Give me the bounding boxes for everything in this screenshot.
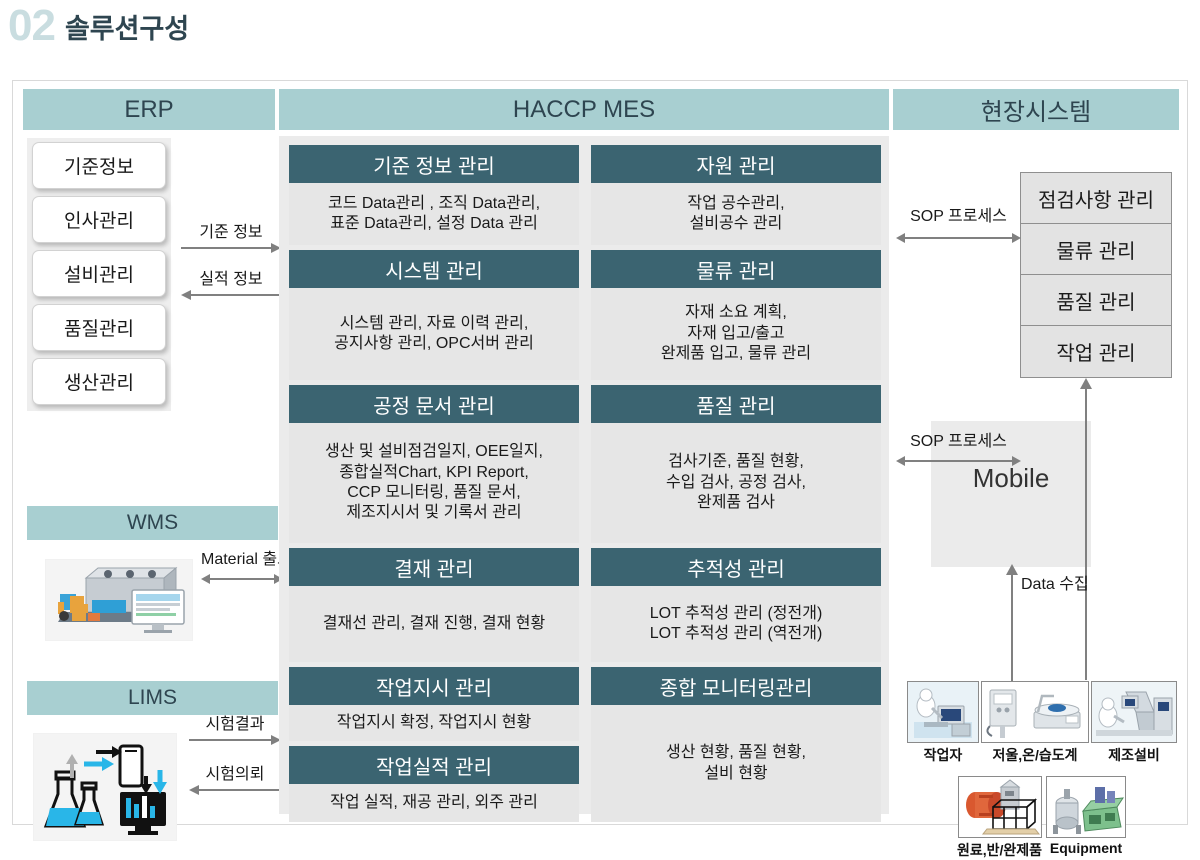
arrow-sop-bottom: SOP 프로세스 — [896, 433, 1021, 467]
mes-module-body: 자재 소요 계획, 자재 입고/출고 완제품 입고, 물류 관리 — [591, 288, 881, 380]
erp-module-card[interactable]: 기준정보 — [32, 142, 166, 189]
arrow-left-icon — [189, 784, 281, 796]
mes-module-title[interactable]: 작업실적 관리 — [289, 746, 579, 784]
diagram-frame: ERP HACCP MES 현장시스템 기준정보 인사관리 설비관리 품질관리 … — [12, 80, 1188, 825]
mes-right-modules: 자원 관리 작업 공수관리, 설비공수 관리 물류 관리 자재 소요 계획, 자… — [591, 145, 881, 827]
arrow-lims-to-mes: 시험결과 — [189, 716, 281, 746]
lims-header: LIMS — [27, 681, 278, 715]
lims-illustration — [33, 733, 177, 841]
arrow-both-icon — [896, 232, 1021, 244]
mes-column: 기준 정보 관리 코드 Data관리 , 조직 Data관리, 표준 Data관… — [279, 136, 889, 814]
laboratory-data-flow-icon — [34, 734, 176, 840]
mes-module-body: 검사기준, 품질 현황, 수입 검사, 공정 검사, 완제품 검사 — [591, 423, 881, 543]
column-header-site: 현장시스템 — [893, 89, 1179, 130]
erp-module-stack: 기준정보 인사관리 설비관리 품질관리 생산관리 — [27, 138, 171, 411]
column-header-erp: ERP — [23, 89, 275, 130]
device-item[interactable]: 작업자 — [907, 681, 979, 765]
device-caption: 제조설비 — [1108, 745, 1160, 765]
mobile-label: Mobile — [931, 463, 1091, 494]
operator-workstation-icon — [907, 681, 979, 743]
arrow-left-icon — [181, 289, 281, 301]
mes-module-title[interactable]: 공정 문서 관리 — [289, 385, 579, 423]
site-item[interactable]: 물류 관리 — [1021, 224, 1171, 275]
mes-module-body: 시스템 관리, 자료 이력 관리, 공지사항 관리, OPC서버 관리 — [289, 288, 579, 380]
erp-module-card[interactable]: 인사관리 — [32, 196, 166, 243]
mes-module-title[interactable]: 기준 정보 관리 — [289, 145, 579, 183]
site-item-stack: 점검사항 관리 물류 관리 품질 관리 작업 관리 — [1020, 172, 1172, 378]
arrow-wms-mes: Material 출고 정보 — [201, 551, 283, 585]
mes-module-title[interactable]: 결재 관리 — [289, 548, 579, 586]
mes-module-body: 생산 및 설비점검일지, OEE일지, 종합실적Chart, KPI Repor… — [289, 423, 579, 543]
scale-thermohygrometer-icon — [981, 681, 1089, 743]
arrow-mes-to-erp: 실적 정보 — [181, 271, 281, 301]
column-header-mes: HACCP MES — [279, 89, 889, 130]
mes-module-title[interactable]: 추적성 관리 — [591, 548, 881, 586]
arrow-mes-to-lims: 시험의뢰 — [189, 766, 281, 796]
device-caption: 원료,반/완제품 — [957, 840, 1042, 860]
arrow-label: 시험의뢰 — [189, 766, 281, 784]
device-row-top: 작업자 — [907, 681, 1177, 765]
site-item[interactable]: 작업 관리 — [1021, 326, 1171, 377]
mes-module-body: LOT 추적성 관리 (정전개) LOT 추적성 관리 (역전개) — [591, 586, 881, 662]
erp-module-card[interactable]: 품질관리 — [32, 304, 166, 351]
arrow-sop-top: SOP 프로세스 — [896, 208, 1021, 244]
mes-module-title[interactable]: 물류 관리 — [591, 250, 881, 288]
device-item[interactable]: 제조설비 — [1091, 681, 1177, 765]
mes-module-title[interactable]: 자원 관리 — [591, 145, 881, 183]
mes-module-title[interactable]: 시스템 관리 — [289, 250, 579, 288]
mes-module-body: 작업 공수관리, 설비공수 관리 — [591, 183, 881, 245]
mes-module-body: 작업 실적, 재공 관리, 외주 관리 — [289, 784, 579, 822]
arrow-both-icon — [896, 455, 1021, 467]
device-caption: 작업자 — [924, 745, 963, 765]
mes-left-modules: 기준 정보 관리 코드 Data관리 , 조직 Data관리, 표준 Data관… — [289, 145, 579, 827]
arrow-label: Material 출고 정보 — [201, 551, 283, 569]
mes-module-body: 결재선 관리, 결재 진행, 결재 현황 — [289, 586, 579, 662]
arrow-right-icon — [181, 242, 281, 254]
device-item[interactable]: 원료,반/완제품 — [957, 776, 1042, 860]
mes-module-body: 작업지시 확정, 작업지시 현황 — [289, 705, 579, 741]
site-item[interactable]: 품질 관리 — [1021, 275, 1171, 326]
device-caption: Equipment — [1050, 840, 1122, 856]
arrow-up-to-site-stack-icon — [1079, 378, 1093, 680]
raw-material-product-icon — [958, 776, 1042, 838]
mes-module-title[interactable]: 작업지시 관리 — [289, 667, 579, 705]
arrow-erp-to-mes: 기준 정보 — [181, 224, 281, 254]
arrow-up-data-collect-icon — [1005, 564, 1019, 682]
arrow-label: SOP 프로세스 — [896, 208, 1021, 226]
device-item[interactable]: Equipment — [1046, 776, 1126, 856]
process-equipment-icon — [1046, 776, 1126, 838]
device-item[interactable]: 저울,온/습도계 — [981, 681, 1089, 765]
slide-heading: 솔루션구성 — [65, 15, 189, 48]
slide-number: 02 — [8, 4, 55, 48]
arrow-label: 기준 정보 — [181, 224, 281, 242]
wms-illustration — [45, 559, 193, 641]
site-column: 점검사항 관리 물류 관리 품질 관리 작업 관리 SOP 프로세스 Mobil… — [893, 136, 1179, 814]
device-caption: 저울,온/습도계 — [992, 745, 1077, 765]
erp-module-card[interactable]: 설비관리 — [32, 250, 166, 297]
erp-column: 기준정보 인사관리 설비관리 품질관리 생산관리 기준 정보 실적 정보 WMS — [23, 136, 275, 814]
site-item[interactable]: 점검사항 관리 — [1021, 173, 1171, 224]
mes-module-body: 코드 Data관리 , 조직 Data관리, 표준 Data관리, 설정 Dat… — [289, 183, 579, 245]
arrow-label-data-collect: Data 수집 — [1021, 576, 1089, 594]
arrow-label: 시험결과 — [189, 716, 281, 734]
arrow-both-icon — [201, 573, 283, 585]
erp-module-card[interactable]: 생산관리 — [32, 358, 166, 405]
arrow-label: SOP 프로세스 — [896, 433, 1021, 451]
mes-module-body: 생산 현황, 품질 현황, 설비 현황 — [591, 705, 881, 822]
warehouse-logistics-icon — [46, 560, 192, 640]
manufacturing-equipment-icon — [1091, 681, 1177, 743]
page-title: 02 솔루션구성 — [8, 4, 189, 48]
wms-header: WMS — [27, 506, 278, 540]
mes-module-title[interactable]: 품질 관리 — [591, 385, 881, 423]
arrow-right-icon — [189, 734, 281, 746]
arrow-label: 실적 정보 — [181, 271, 281, 289]
mes-module-title[interactable]: 종합 모니터링관리 — [591, 667, 881, 705]
device-row-bottom: 원료,반/완제품 — [957, 776, 1126, 860]
